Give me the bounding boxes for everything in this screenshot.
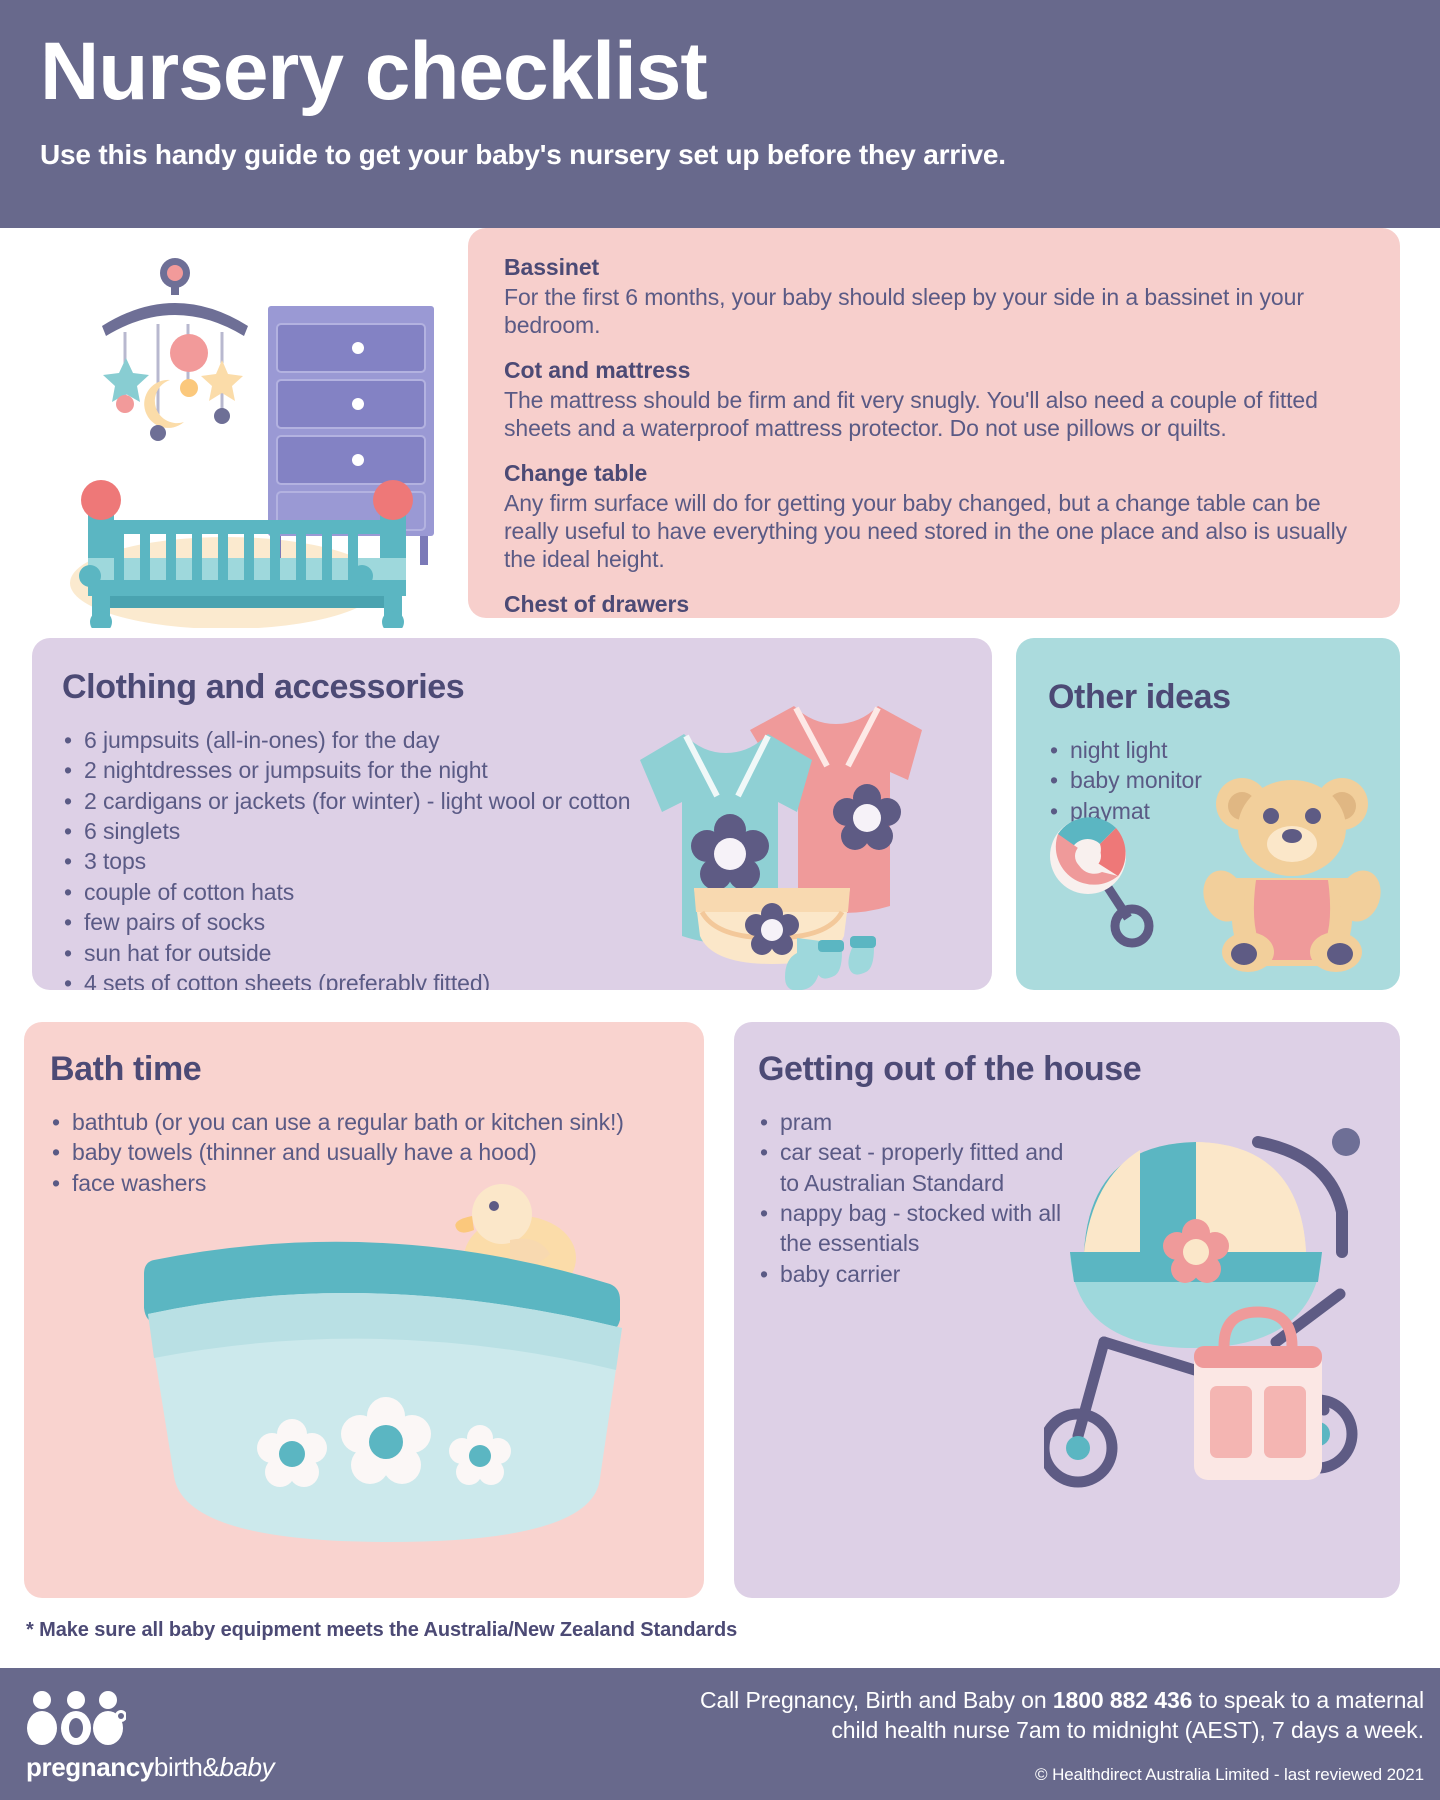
- baby-bathtub-with-duck-illustration: [134, 1182, 654, 1582]
- clothing-panel: Clothing and accessories 6 jumpsuits (al…: [32, 638, 992, 990]
- footnote: * Make sure all baby equipment meets the…: [26, 1619, 737, 1642]
- cot-mattress-heading: Cot and mattress: [504, 357, 1370, 384]
- brand-pregnancy: pregnancy: [26, 1752, 154, 1782]
- bath-time-title: Bath time: [50, 1050, 704, 1089]
- brand-baby: baby: [219, 1752, 274, 1782]
- list-item: bathtub (or you can use a regular bath o…: [50, 1107, 704, 1137]
- footer-call-text: Call Pregnancy, Birth and Baby on 1800 8…: [684, 1686, 1424, 1746]
- brand-birth: birth&: [154, 1752, 220, 1782]
- pregnancy-birth-baby-logo-icon: [26, 1690, 126, 1746]
- bassinet-heading: Bassinet: [504, 254, 1370, 281]
- chest-drawers-heading: Chest of drawers: [504, 591, 1370, 618]
- pram-and-nappy-bag-illustration: [1044, 1080, 1400, 1490]
- page-title: Nursery checklist: [40, 28, 1440, 117]
- list-item: pram: [758, 1107, 1088, 1137]
- page-footer: pregnancybirth&baby Call Pregnancy, Birt…: [0, 1668, 1440, 1800]
- sleeping-panel: Bassinet For the first 6 months, your ba…: [468, 228, 1400, 618]
- page-header: Nursery checklist Use this handy guide t…: [0, 0, 1440, 228]
- getting-out-panel: Getting out of the house pram car seat -…: [734, 1022, 1400, 1598]
- list-item: baby carrier: [758, 1259, 1088, 1289]
- change-table-text: Any firm surface will do for getting you…: [504, 489, 1370, 573]
- list-item: car seat - properly fitted and to Austra…: [758, 1137, 1088, 1198]
- other-ideas-title: Other ideas: [1048, 678, 1400, 717]
- cot-mattress-text: The mattress should be firm and fit very…: [504, 386, 1370, 442]
- brand-wordmark: pregnancybirth&baby: [26, 1752, 274, 1783]
- change-table-heading: Change table: [504, 460, 1370, 487]
- teddy-bear-and-rattle-illustration: [1036, 766, 1400, 990]
- crib-mobile-dresser-illustration: [30, 228, 470, 628]
- list-item: baby towels (thinner and usually have a …: [50, 1137, 704, 1167]
- bath-time-panel: Bath time bathtub (or you can use a regu…: [24, 1022, 704, 1598]
- list-item: nappy bag - stocked with all the essenti…: [758, 1198, 1088, 1259]
- infographic-page: Nursery checklist Use this handy guide t…: [0, 0, 1440, 1800]
- baby-onesies-nappy-socks-illustration: [622, 668, 992, 990]
- footer-copyright: © Healthdirect Australia Limited - last …: [684, 1765, 1424, 1785]
- phone-number: 1800 882 436: [1053, 1687, 1193, 1713]
- call-prefix: Call Pregnancy, Birth and Baby on: [700, 1687, 1053, 1713]
- page-subtitle: Use this handy guide to get your baby's …: [40, 139, 1440, 171]
- bassinet-text: For the first 6 months, your baby should…: [504, 283, 1370, 339]
- list-item: night light: [1048, 735, 1400, 765]
- other-ideas-panel: Other ideas night light baby monitor pla…: [1016, 638, 1400, 990]
- getting-out-list: pram car seat - properly fitted and to A…: [758, 1107, 1088, 1289]
